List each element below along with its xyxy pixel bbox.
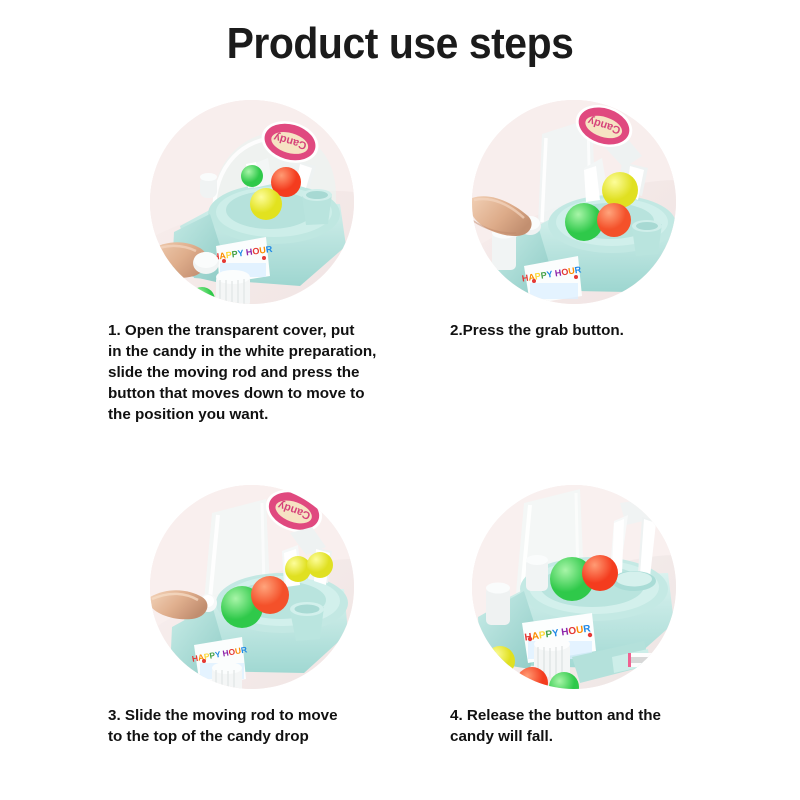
step-card-1: Candy HAPPY HOUR: [88, 100, 428, 425]
step-card-3: Candy: [88, 485, 428, 747]
step-1-photo-wrap: Candy HAPPY HOUR: [88, 100, 428, 306]
step-2-caption: 2.Press the grab button.: [428, 320, 768, 341]
step-4-photo-wrap: HAPPY HOUR: [428, 485, 768, 691]
step-4-caption: 4. Release the button and the candy will…: [428, 705, 768, 747]
step-card-2: Candy: [428, 100, 768, 341]
step-card-4: HAPPY HOUR: [428, 485, 768, 747]
candy-grabber-step4-photo: HAPPY HOUR: [472, 485, 676, 689]
step-3-photo-wrap: Candy: [88, 485, 428, 691]
step-2-photo-wrap: Candy: [428, 100, 768, 306]
product-use-steps-page: Product use steps: [0, 0, 800, 800]
step-1-caption: 1. Open the transparent cover, put in th…: [88, 320, 428, 425]
candy-grabber-step2-photo: Candy: [472, 100, 676, 304]
candy-grabber-step1-photo: Candy HAPPY HOUR: [150, 100, 354, 304]
step-3-caption: 3. Slide the moving rod to move to the t…: [88, 705, 428, 747]
page-title: Product use steps: [28, 20, 772, 68]
candy-grabber-step3-photo: Candy: [150, 485, 354, 689]
